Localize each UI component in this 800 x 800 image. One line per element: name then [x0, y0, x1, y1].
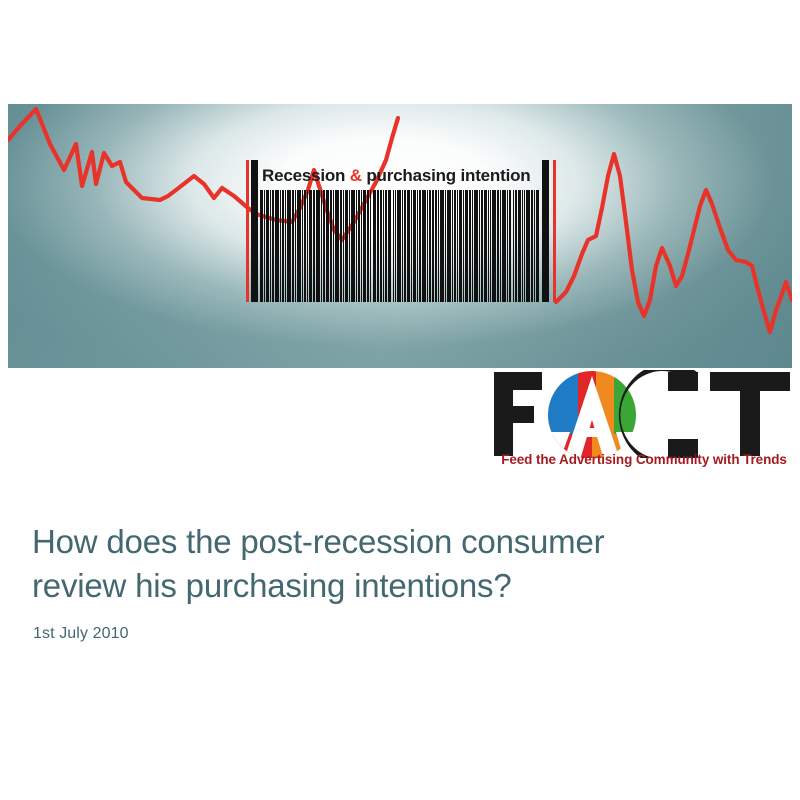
barcode-bar: [422, 190, 426, 302]
barcode-bar: [330, 190, 331, 302]
barcode-bar: [377, 190, 378, 302]
page-title-line-2: review his purchasing intentions?: [32, 567, 512, 604]
barcode-bar: [345, 190, 348, 302]
barcode-bar: [445, 190, 446, 302]
barcode-rail-right: [553, 160, 556, 302]
barcode-bar: [429, 190, 430, 302]
barcode-bar: [397, 190, 401, 302]
barcode-bar: [380, 190, 383, 302]
page-title: How does the post-recession consumerrevi…: [32, 520, 762, 608]
barcode-bar: [260, 190, 263, 302]
barcode-bar: [459, 190, 462, 302]
barcode-bar: [393, 190, 394, 302]
barcode-bar: [282, 190, 284, 302]
barcode-bar: [454, 190, 456, 302]
barcode-bar: [358, 190, 360, 302]
barcode-bar: [502, 190, 506, 302]
presentation-date: 1st July 2010: [33, 624, 762, 644]
fact-wordmark: [492, 370, 792, 458]
barcode-bar: [292, 190, 294, 302]
title-block: How does the post-recession consumerrevi…: [32, 520, 762, 644]
barcode-bar: [526, 190, 530, 302]
barcode-bar: [417, 190, 418, 302]
barcode-bar: [492, 190, 495, 302]
barcode-bar: [323, 190, 325, 302]
barcode-bar: [518, 190, 521, 302]
barcode-bar: [500, 190, 501, 302]
logo-letter-f: [494, 372, 542, 456]
barcode-bar: [457, 190, 458, 302]
barcode-bar: [272, 190, 274, 302]
barcode-bar: [287, 190, 290, 302]
barcode-title-ampersand: &: [350, 166, 362, 185]
barcode-bar: [280, 190, 281, 302]
barcode-bar: [452, 190, 453, 302]
barcode-bar: [326, 190, 329, 302]
barcode-bar: [313, 190, 314, 302]
barcode-bar: [513, 190, 514, 302]
barcode-bar: [488, 190, 489, 302]
barcode-bar: [361, 190, 362, 302]
barcode-guard-bar-right: [542, 160, 549, 302]
barcode-bar: [373, 190, 377, 302]
barcode-bar: [363, 190, 366, 302]
barcode-bar: [270, 190, 271, 302]
barcode-bar: [321, 190, 322, 302]
barcode-bar: [432, 190, 435, 302]
logo-letter-a-colorwheel: [548, 371, 638, 458]
logo-letter-t: [710, 372, 790, 456]
barcode-bar: [497, 190, 499, 302]
barcode-bar: [481, 190, 483, 302]
barcode-bar: [302, 190, 303, 302]
barcode-bar: [509, 190, 512, 302]
barcode-bar: [402, 190, 403, 302]
barcode-graphic: Recession & purchasing intention: [246, 160, 556, 302]
barcode-bar: [413, 190, 416, 302]
barcode-bar: [340, 190, 342, 302]
barcode-bar: [370, 190, 372, 302]
barcode-bar: [304, 190, 306, 302]
barcode-bar: [484, 190, 487, 302]
barcode-bar: [266, 190, 269, 302]
barcode-bar: [395, 190, 396, 302]
barcode-bar: [335, 190, 339, 302]
barcode-bar: [297, 190, 301, 302]
barcode-bar: [349, 190, 350, 302]
barcode-bar: [507, 190, 508, 302]
fact-logo: Feed the Advertising Community with Tren…: [492, 370, 792, 480]
barcode-title-prefix: Recession: [262, 166, 350, 185]
barcode-bars: [260, 190, 540, 302]
barcode-bar: [469, 190, 471, 302]
barcode-bar: [447, 190, 451, 302]
barcode-guard-bar-left: [251, 160, 258, 302]
barcode-bar: [524, 190, 525, 302]
barcode-bar: [367, 190, 368, 302]
barcode-title: Recession & purchasing intention: [262, 164, 538, 188]
trend-line-right: [556, 154, 792, 332]
barcode-title-suffix: purchasing intention: [362, 166, 531, 185]
barcode-bar: [463, 190, 464, 302]
barcode-bar: [333, 190, 334, 302]
barcode-bar: [490, 190, 491, 302]
barcode-bar: [515, 190, 517, 302]
barcode-bar: [440, 190, 443, 302]
barcode-bar: [536, 190, 539, 302]
barcode-bar: [285, 190, 286, 302]
barcode-bar: [309, 190, 312, 302]
barcode-bar: [351, 190, 355, 302]
page-title-line-1: How does the post-recession consumer: [32, 523, 604, 560]
barcode-bar: [534, 190, 535, 302]
barcode-bar: [404, 190, 406, 302]
barcode-bar: [343, 190, 344, 302]
barcode-rail-left: [246, 160, 249, 302]
presentation-title-slide: Recession & purchasing intention: [0, 0, 800, 800]
barcode-bar: [479, 190, 480, 302]
barcode-bar: [522, 190, 523, 302]
barcode-bar: [388, 190, 391, 302]
barcode-bar: [438, 190, 439, 302]
barcode-bar: [472, 190, 473, 302]
barcode-bar: [465, 190, 468, 302]
barcode-bar: [295, 190, 296, 302]
barcode-bar: [307, 190, 308, 302]
barcode-bar: [385, 190, 387, 302]
barcode-bar: [419, 190, 421, 302]
barcode-bar: [356, 190, 357, 302]
barcode-bar: [531, 190, 533, 302]
barcode-bar: [435, 190, 437, 302]
barcode-bar: [474, 190, 478, 302]
barcode-bar: [407, 190, 410, 302]
logo-tagline: Feed the Advertising Community with Tren…: [496, 452, 792, 467]
barcode-bar: [383, 190, 384, 302]
barcode-bar: [275, 190, 279, 302]
barcode-bar: [264, 190, 265, 302]
barcode-bar: [427, 190, 428, 302]
barcode-bar: [411, 190, 412, 302]
barcode-bar: [316, 190, 320, 302]
